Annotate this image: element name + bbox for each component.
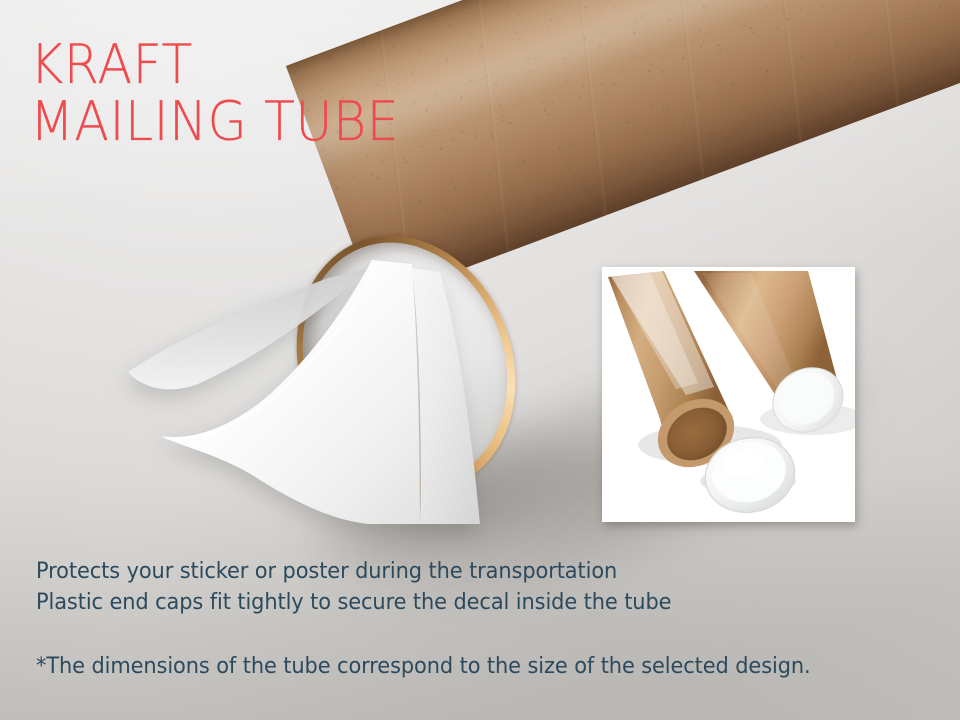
product-detail-inset [602, 267, 855, 522]
title-line-2: MAILING TUBE [30, 93, 399, 150]
white-poster-curl [120, 252, 520, 532]
body-line-2: Plastic end caps fit tightly to secure t… [36, 587, 671, 618]
title-line-1: KRAFT [30, 36, 399, 93]
poster-footnote: *The dimensions of the tube correspond t… [36, 654, 811, 679]
poster-body-text: Protects your sticker or poster during t… [36, 556, 705, 618]
body-line-1: Protects your sticker or poster during t… [36, 556, 671, 587]
product-poster: KRAFT MAILING TUBE Protects your sticker… [0, 0, 960, 720]
inset-tubes-artwork [602, 267, 855, 522]
poster-title: KRAFT MAILING TUBE [30, 36, 423, 150]
